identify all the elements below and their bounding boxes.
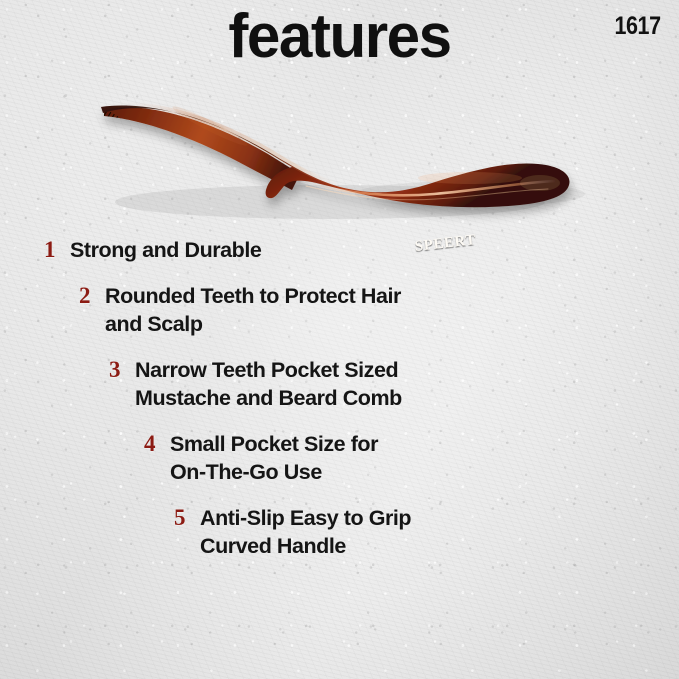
feature-text-3: Narrow Teeth Pocket Sized Mustache and B…: [135, 356, 402, 412]
feature-item-5: 5 Anti-Slip Easy to Grip Curved Handle: [0, 504, 679, 560]
feature-text-1: Strong and Durable: [70, 236, 261, 264]
feature-text-4: Small Pocket Size for On-The-Go Use: [170, 430, 378, 486]
feature-text-2: Rounded Teeth to Protect Hair and Scalp: [105, 282, 401, 338]
feature-number-1: 1: [44, 236, 70, 264]
product-image-mustache-comb: SPEERT: [0, 82, 679, 237]
feature-list: 1 Strong and Durable 2 Rounded Teeth to …: [0, 236, 679, 578]
feature-number-2: 2: [79, 282, 105, 310]
product-code: 1617: [615, 12, 661, 41]
feature-item-4: 4 Small Pocket Size for On-The-Go Use: [0, 430, 679, 486]
feature-text-5: Anti-Slip Easy to Grip Curved Handle: [200, 504, 411, 560]
feature-infographic: features 1617: [0, 0, 679, 679]
feature-number-3: 3: [109, 356, 135, 384]
feature-item-1: 1 Strong and Durable: [0, 236, 679, 264]
feature-number-5: 5: [174, 504, 200, 532]
feature-item-2: 2 Rounded Teeth to Protect Hair and Scal…: [0, 282, 679, 338]
page-title: features: [10, 6, 669, 68]
feature-item-3: 3 Narrow Teeth Pocket Sized Mustache and…: [0, 356, 679, 412]
feature-number-4: 4: [144, 430, 170, 458]
